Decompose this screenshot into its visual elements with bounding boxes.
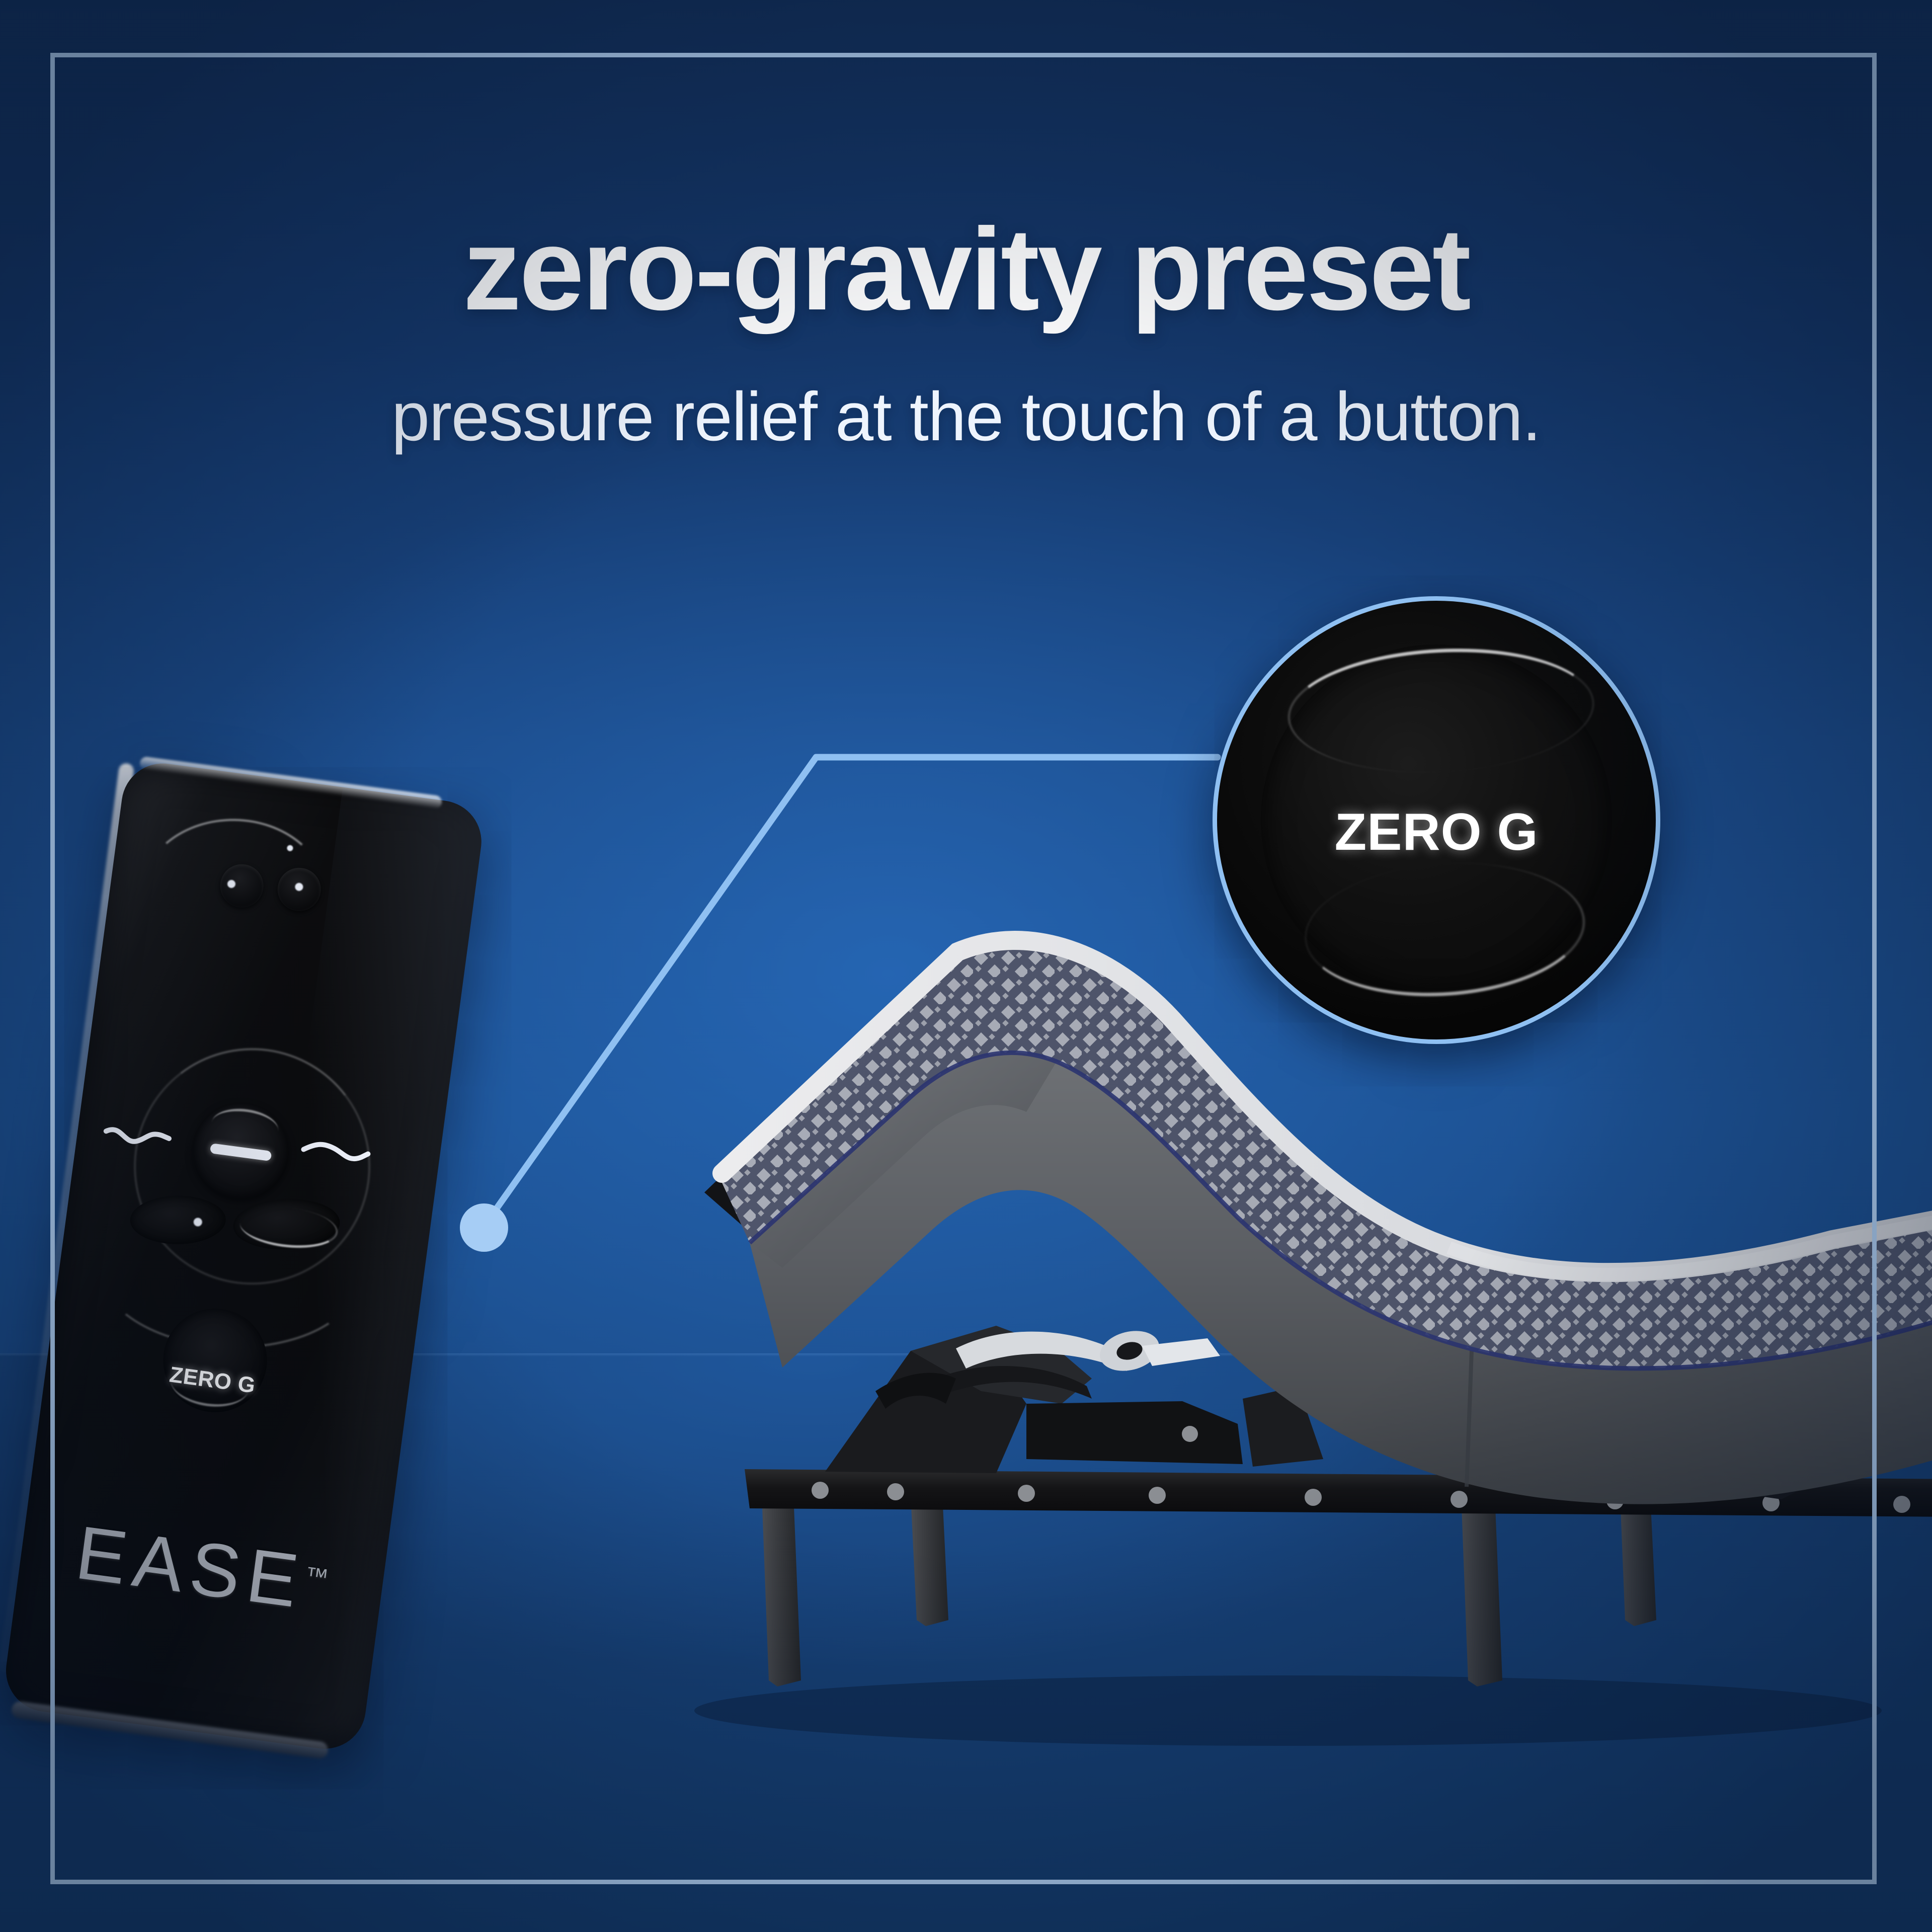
page-headline: zero-gravity preset <box>0 211 1932 328</box>
zero-g-button-magnifier: ZERO G <box>1213 596 1660 1044</box>
button-glint <box>227 879 236 889</box>
trademark-symbol: ™ <box>303 1562 330 1591</box>
adjustable-bed <box>674 896 1932 1781</box>
magnified-zero-g-label: ZERO G <box>1217 802 1656 862</box>
center-dash-icon <box>210 1143 272 1161</box>
marketing-image-canvas: ZERO G EASE™ ZERO G zero-gravity preset … <box>0 0 1932 1932</box>
button-glint <box>194 1218 202 1226</box>
zero-g-button-label: ZERO G <box>142 1359 282 1402</box>
button-glint <box>294 882 303 892</box>
bed-legs <box>762 1495 1656 1686</box>
bed-illustration <box>674 896 1932 1781</box>
page-subheadline: pressure relief at the touch of a button… <box>0 382 1932 451</box>
